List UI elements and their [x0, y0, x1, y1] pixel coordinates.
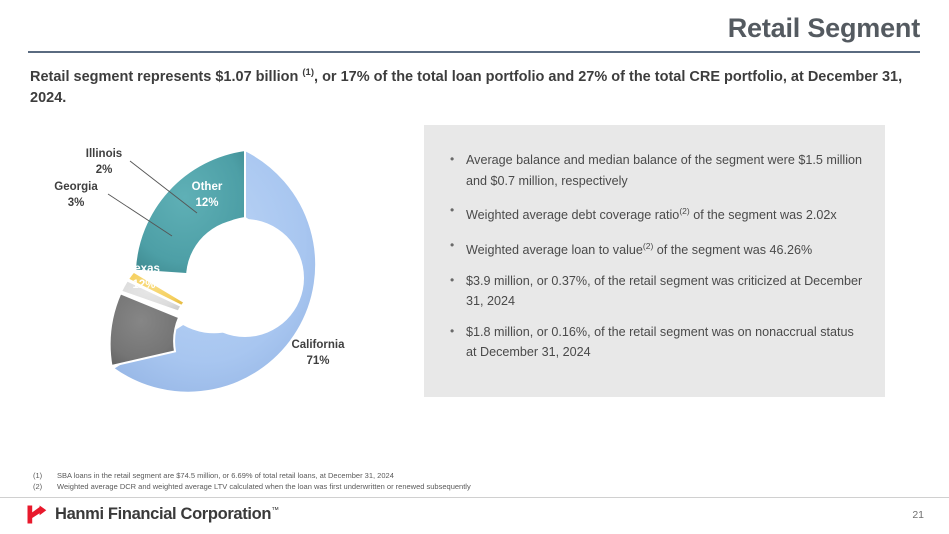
- title-divider: [28, 51, 920, 53]
- footnote-text-2: Weighted average DCR and weighted averag…: [57, 481, 471, 492]
- bullet-item-debt-coverage-ratio: Weighted average debt coverage ratio(2) …: [446, 203, 867, 224]
- hanmi-logo-icon: [26, 504, 48, 525]
- bullet-footnote-ref: (2): [643, 241, 653, 251]
- callout-label-illinois-value: 2%: [96, 164, 113, 176]
- slice-label-texas-value: 12%: [132, 279, 155, 291]
- bullet-text-post: of the segment was 2.02x: [690, 208, 837, 222]
- slide-footer: Hanmi Financial Corporation™ 21: [0, 498, 949, 534]
- bullet-item-average-balance: Average balance and median balance of th…: [446, 152, 867, 189]
- page-number: 21: [912, 509, 924, 521]
- brand-trademark: ™: [271, 506, 279, 515]
- slice-label-other-name: Other: [192, 181, 223, 193]
- slice-label-california-name: California: [291, 339, 345, 351]
- footnotes: (1) SBA loans in the retail segment are …: [33, 470, 793, 492]
- footnote-text-1: SBA loans in the retail segment are $74.…: [57, 470, 394, 481]
- bullet-item-loan-to-value: Weighted average loan to value(2) of the…: [446, 238, 867, 259]
- bullet-text-pre: $1.8 million, or 0.16%, of the retail se…: [466, 325, 854, 360]
- slice-label-texas-name: Texas: [128, 263, 160, 275]
- footnote-row-1: (1) SBA loans in the retail segment are …: [33, 470, 793, 481]
- slice-label-other-value: 12%: [195, 197, 218, 209]
- bullet-text-pre: $3.9 million, or 0.37%, of the retail se…: [466, 274, 862, 309]
- footnote-marker-2: (2): [33, 481, 57, 492]
- footnote-marker-1: (1): [33, 470, 57, 481]
- callout-label-georgia-name: Georgia: [54, 181, 98, 193]
- metrics-bullet-list: Average balance and median balance of th…: [446, 152, 867, 375]
- page-title: Retail Segment: [728, 12, 920, 44]
- subtitle-part-1: Retail segment represents $1.07 billion: [30, 69, 302, 85]
- brand-name: Hanmi Financial Corporation™: [55, 505, 279, 524]
- bullet-text-pre: Weighted average loan to value: [466, 243, 643, 257]
- donut-hole: [186, 219, 304, 337]
- callout-label-georgia-value: 3%: [68, 197, 85, 209]
- footnote-row-2: (2) Weighted average DCR and weighted av…: [33, 481, 793, 492]
- brand-name-text: Hanmi Financial Corporation: [55, 505, 271, 523]
- bullet-text-pre: Weighted average debt coverage ratio: [466, 208, 679, 222]
- bullet-footnote-ref: (2): [679, 206, 689, 216]
- donut-chart-svg: Other 12% Texas 12% California 71% Illin…: [20, 130, 420, 430]
- segment-metrics-panel: Average balance and median balance of th…: [424, 125, 885, 397]
- bullet-text-post: of the segment was 46.26%: [653, 243, 812, 257]
- bullet-item-criticized: $3.9 million, or 0.37%, of the retail se…: [446, 273, 867, 310]
- brand-lockup: Hanmi Financial Corporation™: [26, 504, 279, 525]
- bullet-text-pre: Average balance and median balance of th…: [466, 153, 862, 188]
- bullet-item-nonaccrual: $1.8 million, or 0.16%, of the retail se…: [446, 324, 867, 361]
- state-distribution-donut-chart: Other 12% Texas 12% California 71% Illin…: [20, 130, 420, 430]
- subtitle-text: Retail segment represents $1.07 billion …: [30, 62, 925, 109]
- slice-label-california-value: 71%: [306, 355, 329, 367]
- callout-label-illinois-name: Illinois: [86, 148, 122, 160]
- subtitle-footnote-ref: (1): [302, 67, 314, 78]
